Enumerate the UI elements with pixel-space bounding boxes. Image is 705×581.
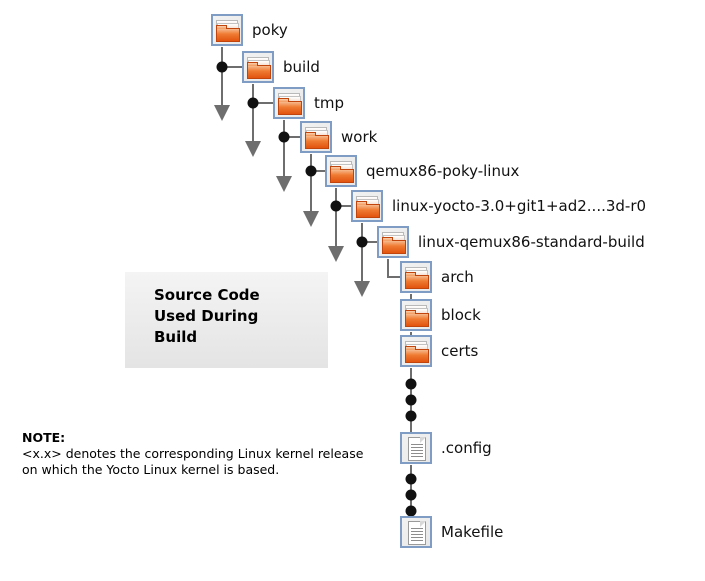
tree-node-label: block: [441, 307, 481, 323]
folder-icon-frame[interactable]: [300, 121, 332, 153]
ellipsis-dots-lower: [406, 474, 417, 517]
folder-icon: [381, 230, 407, 256]
folder-icon-frame[interactable]: [400, 261, 432, 293]
folder-icon-frame[interactable]: [325, 155, 357, 187]
ellipsis-dots-upper: [406, 379, 417, 422]
folder-icon-frame[interactable]: [400, 335, 432, 367]
tree-node-qemux86[interactable]: qemux86-poky-linux: [325, 155, 519, 187]
tree-node-makefile[interactable]: Makefile: [400, 516, 503, 548]
tree-node-certs[interactable]: certs: [400, 335, 478, 367]
tree-node-label: tmp: [314, 95, 344, 111]
tree-node-label: work: [341, 129, 377, 145]
diagram-canvas: Source Code Used During Build NOTE: <x.x…: [0, 0, 705, 581]
tree-node-label: .config: [441, 440, 492, 456]
folder-icon-frame[interactable]: [211, 14, 243, 46]
tree-node-label: linux-yocto-3.0+git1+ad2....3d-r0: [392, 198, 646, 214]
folder-icon: [404, 339, 430, 365]
file-icon-frame[interactable]: [400, 432, 432, 464]
folder-icon-frame[interactable]: [400, 299, 432, 331]
folder-icon-frame[interactable]: [273, 87, 305, 119]
tree-node-build[interactable]: build: [242, 51, 320, 83]
file-icon-frame[interactable]: [400, 516, 432, 548]
tree-node-label: certs: [441, 343, 478, 359]
tree-node-label: Makefile: [441, 524, 503, 540]
tree-node-block[interactable]: block: [400, 299, 481, 331]
note-title: NOTE:: [22, 430, 382, 446]
file-icon: [404, 436, 430, 462]
folder-icon: [329, 159, 355, 185]
legend-label: Source Code Used During Build: [154, 285, 260, 348]
folder-icon: [246, 55, 272, 81]
note-body: <x.x> denotes the corresponding Linux ke…: [22, 446, 382, 478]
tree-node-poky[interactable]: poky: [211, 14, 288, 46]
tree-node-stdbuild[interactable]: linux-qemux86-standard-build: [377, 226, 645, 258]
tree-node-label: arch: [441, 269, 474, 285]
note-block: NOTE: <x.x> denotes the corresponding Li…: [22, 430, 382, 478]
tree-node-label: qemux86-poky-linux: [366, 163, 519, 179]
folder-icon: [404, 265, 430, 291]
tree-node-arch[interactable]: arch: [400, 261, 474, 293]
folder-icon-frame[interactable]: [351, 190, 383, 222]
file-icon: [404, 520, 430, 546]
tree-node-label: build: [283, 59, 320, 75]
folder-icon: [277, 91, 303, 117]
tree-node-linuxyocto[interactable]: linux-yocto-3.0+git1+ad2....3d-r0: [351, 190, 646, 222]
tree-node-label: poky: [252, 22, 288, 38]
folder-icon: [355, 194, 381, 220]
folder-icon: [304, 125, 330, 151]
tree-node-work[interactable]: work: [300, 121, 377, 153]
folder-icon-frame[interactable]: [377, 226, 409, 258]
tree-node-config[interactable]: .config: [400, 432, 492, 464]
folder-icon: [404, 303, 430, 329]
tree-node-label: linux-qemux86-standard-build: [418, 234, 645, 250]
connector-lines: [0, 0, 705, 581]
legend-box: Source Code Used During Build: [125, 272, 328, 368]
folder-icon: [215, 18, 241, 44]
folder-icon-frame[interactable]: [242, 51, 274, 83]
tree-node-tmp[interactable]: tmp: [273, 87, 344, 119]
